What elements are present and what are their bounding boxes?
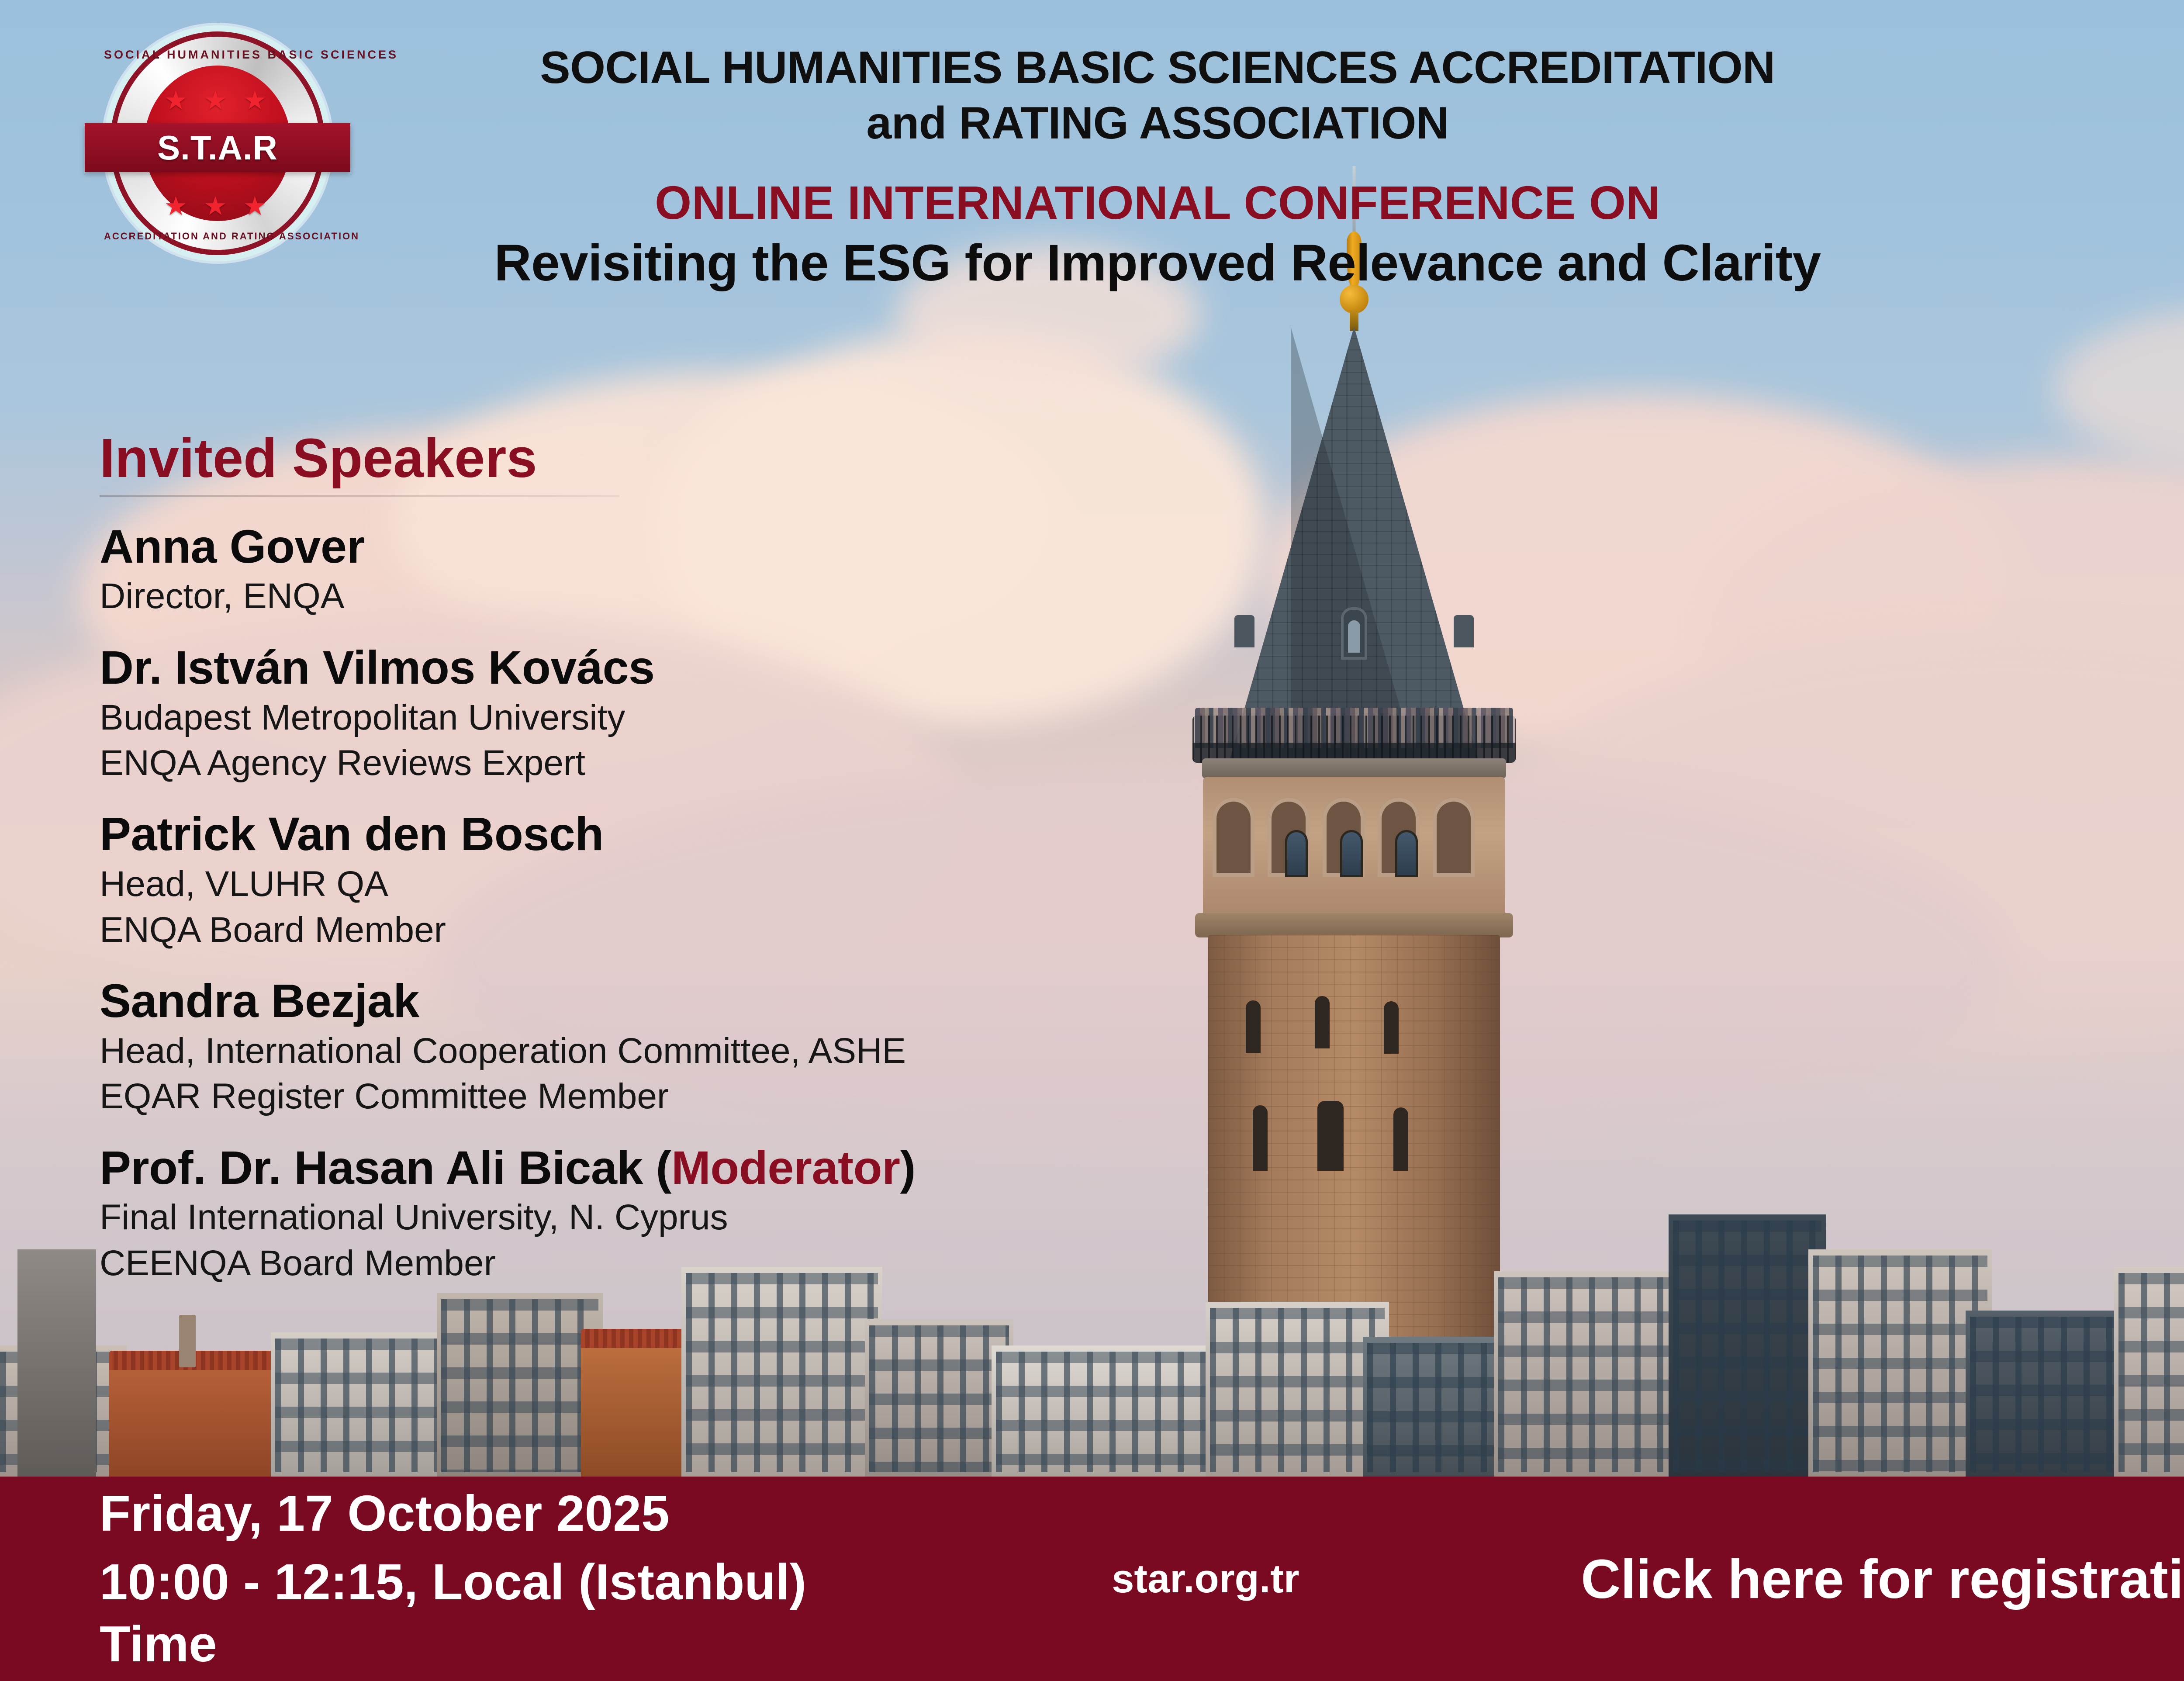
tower-slit-window bbox=[1315, 996, 1330, 1048]
footer-website-group: star.org.tr bbox=[917, 1556, 1494, 1602]
speaker-affiliation: Head, International Cooperation Committe… bbox=[100, 1030, 1148, 1072]
speaker-entry: Patrick Van den Bosch Head, VLUHR QA ENQ… bbox=[100, 808, 1148, 951]
speaker-affiliation: Head, VLUHR QA bbox=[100, 863, 1148, 906]
tower-window bbox=[1395, 830, 1418, 877]
speaker-affiliation: Final International University, N. Cypru… bbox=[100, 1196, 1148, 1239]
building-windows bbox=[2118, 1273, 2184, 1472]
invited-speakers-heading: Invited Speakers bbox=[100, 428, 1148, 489]
conference-title: Revisiting the ESG for Improved Relevanc… bbox=[437, 234, 1878, 293]
building-windows bbox=[1813, 1256, 1987, 1472]
speaker-affiliation: EQAR Register Committee Member bbox=[100, 1075, 1148, 1118]
footer-datetime-group: Friday, 17 October 2025 10:00 - 12:15, L… bbox=[0, 1483, 917, 1675]
speaker-entry: Sandra Bezjak Head, International Cooper… bbox=[100, 975, 1148, 1118]
tower-cornice bbox=[1195, 913, 1513, 937]
organisation-name-line1: SOCIAL HUMANITIES BASIC SCIENCES ACCREDI… bbox=[437, 40, 1878, 96]
tower-arch bbox=[1213, 798, 1254, 877]
tower-arcade-level bbox=[1203, 777, 1505, 917]
building bbox=[865, 1319, 1013, 1477]
building-windows bbox=[1673, 1221, 1821, 1472]
role-open-paren: ( bbox=[643, 1141, 671, 1194]
event-date: Friday, 17 October 2025 bbox=[100, 1483, 917, 1545]
building-windows bbox=[869, 1325, 1009, 1472]
tower-balcony-floor bbox=[1202, 758, 1506, 778]
building-windows bbox=[1970, 1317, 2136, 1472]
speaker-name-with-role: Prof. Dr. Hasan Ali Bicak (Moderator) bbox=[100, 1142, 1148, 1194]
building-windows bbox=[275, 1339, 450, 1472]
speaker-name: Anna Gover bbox=[100, 521, 1148, 573]
tower-balcony-railing bbox=[1192, 716, 1516, 763]
speaker-affiliation: Director, ENQA bbox=[100, 575, 1148, 618]
logo-stars-bottom-icon: ★ ★ ★ bbox=[104, 193, 331, 219]
tower-dormer-glass bbox=[1348, 620, 1360, 653]
building bbox=[681, 1267, 882, 1477]
role-close-paren: ) bbox=[900, 1141, 915, 1194]
logo-ribbon-text: S.T.A.R bbox=[157, 128, 278, 168]
building bbox=[2114, 1267, 2184, 1477]
tower-slit-window bbox=[1384, 1001, 1399, 1054]
building-windows bbox=[686, 1273, 878, 1472]
speaker-entry: Prof. Dr. Hasan Ali Bicak (Moderator) Fi… bbox=[100, 1142, 1148, 1285]
building-windows bbox=[1367, 1343, 1516, 1472]
speaker-entry: Anna Gover Director, ENQA bbox=[100, 521, 1148, 618]
tower-roof-turret-right bbox=[1454, 615, 1474, 647]
tower-window bbox=[1340, 830, 1363, 877]
header-block: SOCIAL HUMANITIES BASIC SCIENCES ACCREDI… bbox=[437, 40, 1878, 292]
logo-arc-top-text: SOCIAL HUMANITIES BASIC SCIENCES bbox=[104, 48, 331, 62]
registration-link[interactable]: Click here for registration bbox=[1494, 1547, 2184, 1611]
speaker-affiliation: Budapest Metropolitan University bbox=[100, 696, 1148, 739]
building bbox=[437, 1293, 603, 1477]
speaker-affiliation: CEENQA Board Member bbox=[100, 1242, 1148, 1285]
building bbox=[271, 1332, 454, 1477]
event-time: 10:00 - 12:15, Local (Istanbul) Time bbox=[100, 1551, 917, 1675]
tower-slit-window bbox=[1246, 1000, 1261, 1053]
speaker-name: Dr. István Vilmos Kovács bbox=[100, 642, 1148, 694]
speaker-name: Sandra Bezjak bbox=[100, 975, 1148, 1027]
speaker-entry: Dr. István Vilmos Kovács Budapest Metrop… bbox=[100, 642, 1148, 785]
tower-roof-turret-left bbox=[1234, 615, 1254, 647]
logo-arc-bottom-text: ACCREDITATION AND RATING ASSOCIATION bbox=[104, 231, 331, 242]
footer-bar: Friday, 17 October 2025 10:00 - 12:15, L… bbox=[0, 1477, 2184, 1681]
building-windows bbox=[441, 1299, 598, 1472]
logo-stars-top-icon: ★ ★ ★ bbox=[104, 87, 331, 114]
tower-arch bbox=[1433, 798, 1475, 877]
invited-speakers-section: Invited Speakers Anna Gover Director, EN… bbox=[100, 428, 1148, 1285]
website-link[interactable]: star.org.tr bbox=[917, 1556, 1494, 1602]
star-association-logo: SOCIAL HUMANITIES BASIC SCIENCES ★ ★ ★ ★… bbox=[104, 25, 331, 261]
speaker-affiliation: ENQA Agency Reviews Expert bbox=[100, 742, 1148, 785]
speaker-name: Prof. Dr. Hasan Ali Bicak bbox=[100, 1141, 643, 1194]
heading-divider bbox=[100, 495, 619, 497]
footer-registration-group: Click here for registration bbox=[1494, 1547, 2184, 1611]
building-windows bbox=[996, 1352, 1214, 1472]
speaker-name: Patrick Van den Bosch bbox=[100, 808, 1148, 860]
conference-kicker: ONLINE INTERNATIONAL CONFERENCE ON bbox=[437, 176, 1878, 229]
chimney bbox=[179, 1315, 196, 1367]
conference-poster: SOCIAL HUMANITIES BASIC SCIENCES ★ ★ ★ ★… bbox=[0, 0, 2184, 1681]
building bbox=[1206, 1302, 1389, 1477]
speaker-role: Moderator bbox=[671, 1141, 900, 1194]
building bbox=[1669, 1214, 1826, 1477]
galata-tower-illustration bbox=[1166, 166, 1542, 1311]
speaker-affiliation: ENQA Board Member bbox=[100, 909, 1148, 951]
organisation-name-line2: and RATING ASSOCIATION bbox=[437, 96, 1878, 151]
building bbox=[17, 1249, 96, 1477]
logo-ribbon: S.T.A.R bbox=[85, 123, 350, 172]
tower-window bbox=[1285, 830, 1308, 877]
building-windows bbox=[1210, 1308, 1385, 1472]
building bbox=[1808, 1249, 1992, 1477]
building bbox=[992, 1345, 1219, 1477]
